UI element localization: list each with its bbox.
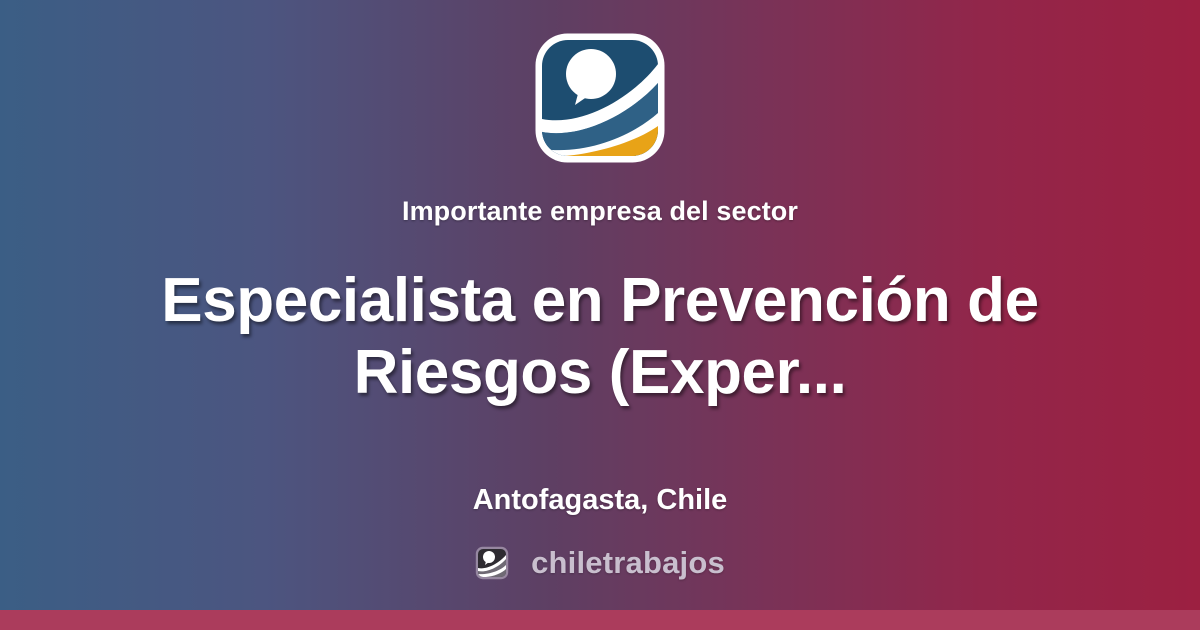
job-share-card: Importante empresa del sector Especialis…	[0, 0, 1200, 630]
job-title: Especialista en Prevención de Riesgos (E…	[50, 265, 1150, 409]
site-brand[interactable]: chiletrabajos	[475, 545, 725, 581]
company-logo	[533, 31, 667, 165]
chiletrabajos-app-logo-icon	[533, 31, 667, 165]
site-brand-name: chiletrabajos	[531, 545, 725, 581]
bottom-accent-bar	[0, 610, 1200, 630]
company-name: Importante empresa del sector	[402, 197, 798, 227]
chiletrabajos-mark-icon	[475, 546, 509, 580]
job-location: Antofagasta, Chile	[473, 484, 728, 517]
